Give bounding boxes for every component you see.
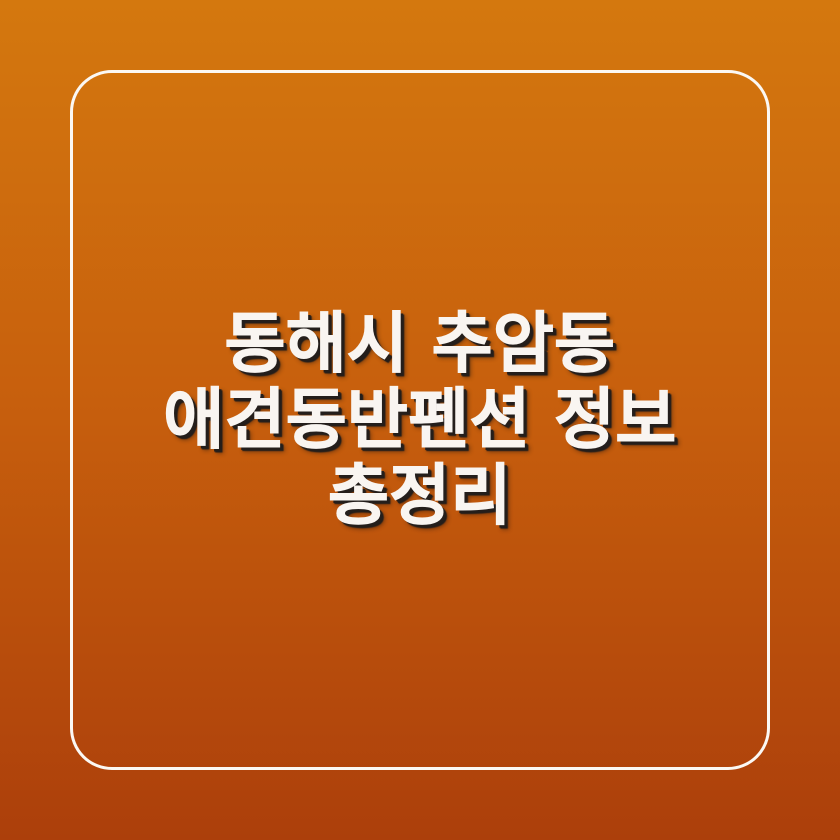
headline-line-3: 총정리 <box>328 458 512 534</box>
headline-line-2: 애견동반펜션 정보 <box>163 382 676 458</box>
title-card: 동해시 추암동 애견동반펜션 정보 총정리 <box>0 0 840 840</box>
headline-line-1: 동해시 추암동 <box>225 306 616 382</box>
headline-block: 동해시 추암동 애견동반펜션 정보 총정리 <box>0 0 840 840</box>
